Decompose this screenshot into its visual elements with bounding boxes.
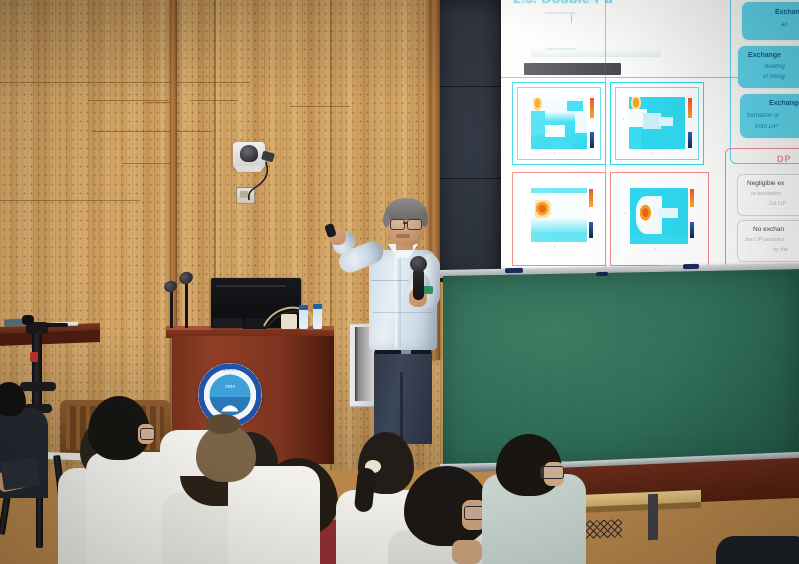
board-marker: [683, 264, 699, 269]
flow-box-2-detail-1: heating: [765, 64, 785, 70]
audience-member-10-device: [0, 458, 40, 491]
camera-cable: [230, 160, 280, 210]
flow-box-2-detail-2: of nitrog: [763, 74, 785, 80]
plot-top-right: x y: [610, 82, 704, 165]
desk-basket: [586, 519, 622, 539]
floor-mic-stand: [185, 280, 188, 328]
flow-box-3-detail-2: from LIP: [755, 124, 778, 130]
slide-section-title: 2.3. Double-Pu: [513, 0, 613, 6]
plot-top-left: x y: [512, 82, 606, 165]
flow-box-2-heading: Exchange: [748, 52, 781, 59]
tripod-lock-red: [30, 352, 38, 362]
lecture-hall-photo: 2.3. Double-Pu Lorem schematic Lorem sch…: [0, 0, 799, 564]
presenter-glasses-right-lens: [407, 219, 422, 230]
flow-box-exchange-1: [742, 2, 799, 40]
bottle-cap: [313, 304, 322, 309]
podium-item-box: [281, 314, 297, 329]
water-bottle: [299, 309, 308, 329]
observation-1-detail-2: 1st LIP: [769, 201, 786, 207]
flow-box-1-heading: Exchange: [775, 9, 799, 16]
logo-chinese-name: 中国海洋大学: [198, 367, 262, 372]
audience-member-7-hand: [452, 540, 482, 564]
dark-acoustic-panel: [440, 0, 502, 282]
projection-screen: 2.3. Double-Pu Lorem schematic Lorem sch…: [501, 0, 799, 284]
plot-bottom-right: x y: [610, 172, 709, 266]
flow-box-3-heading: Exchange: [769, 100, 799, 107]
audience-member-8-glasses: [540, 466, 564, 479]
tripod-arm: [44, 323, 68, 327]
podium-equipment: [213, 318, 243, 328]
bottle-cap: [299, 305, 308, 310]
logo-emblem: 1924: [210, 375, 251, 416]
presenter-glasses-bridge: [403, 222, 407, 224]
observation-1-heading: Negligible ex: [747, 180, 784, 187]
slide-dark-bar: [524, 63, 621, 75]
flowchart-dp-heading: DP: [777, 154, 792, 164]
desk-divider: [648, 494, 658, 540]
audience-member-1-body: [228, 466, 320, 564]
logo-year: 1924: [210, 384, 251, 389]
observation-2-detail-2: by the: [773, 247, 788, 253]
trouser-crease: [400, 372, 403, 444]
board-marker: [596, 272, 608, 276]
observation-1-detail-1: re-excitation: [751, 191, 781, 197]
slide-ghost-caption-2: Lorem schematic: [545, 46, 575, 51]
microphone-head: [410, 256, 427, 272]
observation-2-heading: No exchan: [753, 226, 784, 233]
presenter-hair-side: [383, 212, 390, 227]
monitor-vent: [216, 285, 286, 287]
observation-2-detail-1: the LIP particles: [745, 237, 784, 243]
podium-side: [315, 336, 334, 464]
slide-ghost-pointer: [571, 14, 572, 23]
handheld-microphone[interactable]: [413, 268, 424, 300]
plot-bottom-left: x y: [512, 172, 606, 266]
wristwatch: [423, 286, 433, 294]
flow-box-1-detail: air: [781, 22, 788, 28]
logo-wave-icon: [214, 397, 247, 411]
podium-mic-stand: [170, 288, 173, 328]
tripod-leg-lock: [20, 382, 56, 391]
presenter-glasses-left-lens: [390, 219, 405, 230]
flow-box-3-detail-1: formation of: [747, 113, 779, 119]
audience-member-1-bun: [206, 414, 240, 434]
water-bottle: [313, 308, 322, 329]
tripod-ball-head: [22, 315, 34, 325]
audience-member-4-glasses: [140, 428, 155, 440]
board-marker: [505, 268, 523, 273]
audience-member-11-body: [716, 536, 799, 564]
chalkboard: [443, 269, 799, 472]
presenter-mouth: [396, 234, 410, 238]
presenter-hair-side: [421, 212, 428, 227]
presenter-trousers: [374, 348, 432, 444]
